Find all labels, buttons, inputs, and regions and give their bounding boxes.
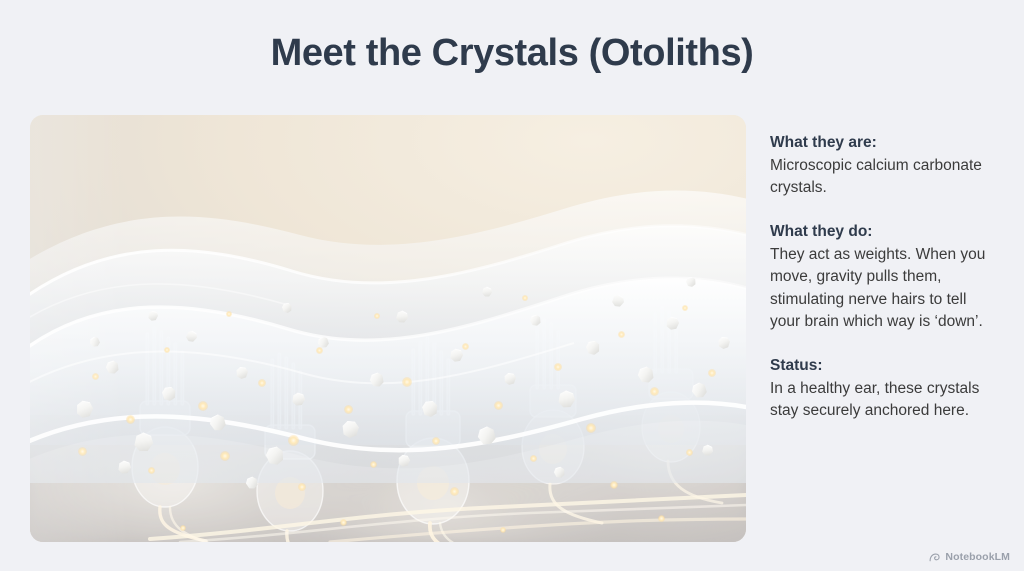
info-block-heading: Status: [770,355,998,377]
info-block-what-they-are: What they are: Microscopic calcium carbo… [770,132,998,199]
info-block-body: Microscopic calcium carbonate crystals. [770,155,998,199]
notebooklm-icon [929,552,940,563]
info-block-body: In a healthy ear, these crystals stay se… [770,378,998,422]
info-block-what-they-do: What they do: They act as weights. When … [770,221,998,333]
info-block-body: They act as weights. When you move, grav… [770,244,998,333]
info-text-column: What they are: Microscopic calcium carbo… [770,132,998,422]
info-block-status: Status: In a healthy ear, these crystals… [770,355,998,422]
illustration-vignette [30,115,746,542]
notebooklm-watermark: NotebookLM [929,551,1010,563]
page-title: Meet the Crystals (Otoliths) [0,32,1024,76]
slide: Meet the Crystals (Otoliths) [0,0,1024,571]
info-block-heading: What they do: [770,221,998,243]
illustration-panel [30,115,746,542]
notebooklm-label: NotebookLM [945,551,1010,563]
info-block-heading: What they are: [770,132,998,154]
